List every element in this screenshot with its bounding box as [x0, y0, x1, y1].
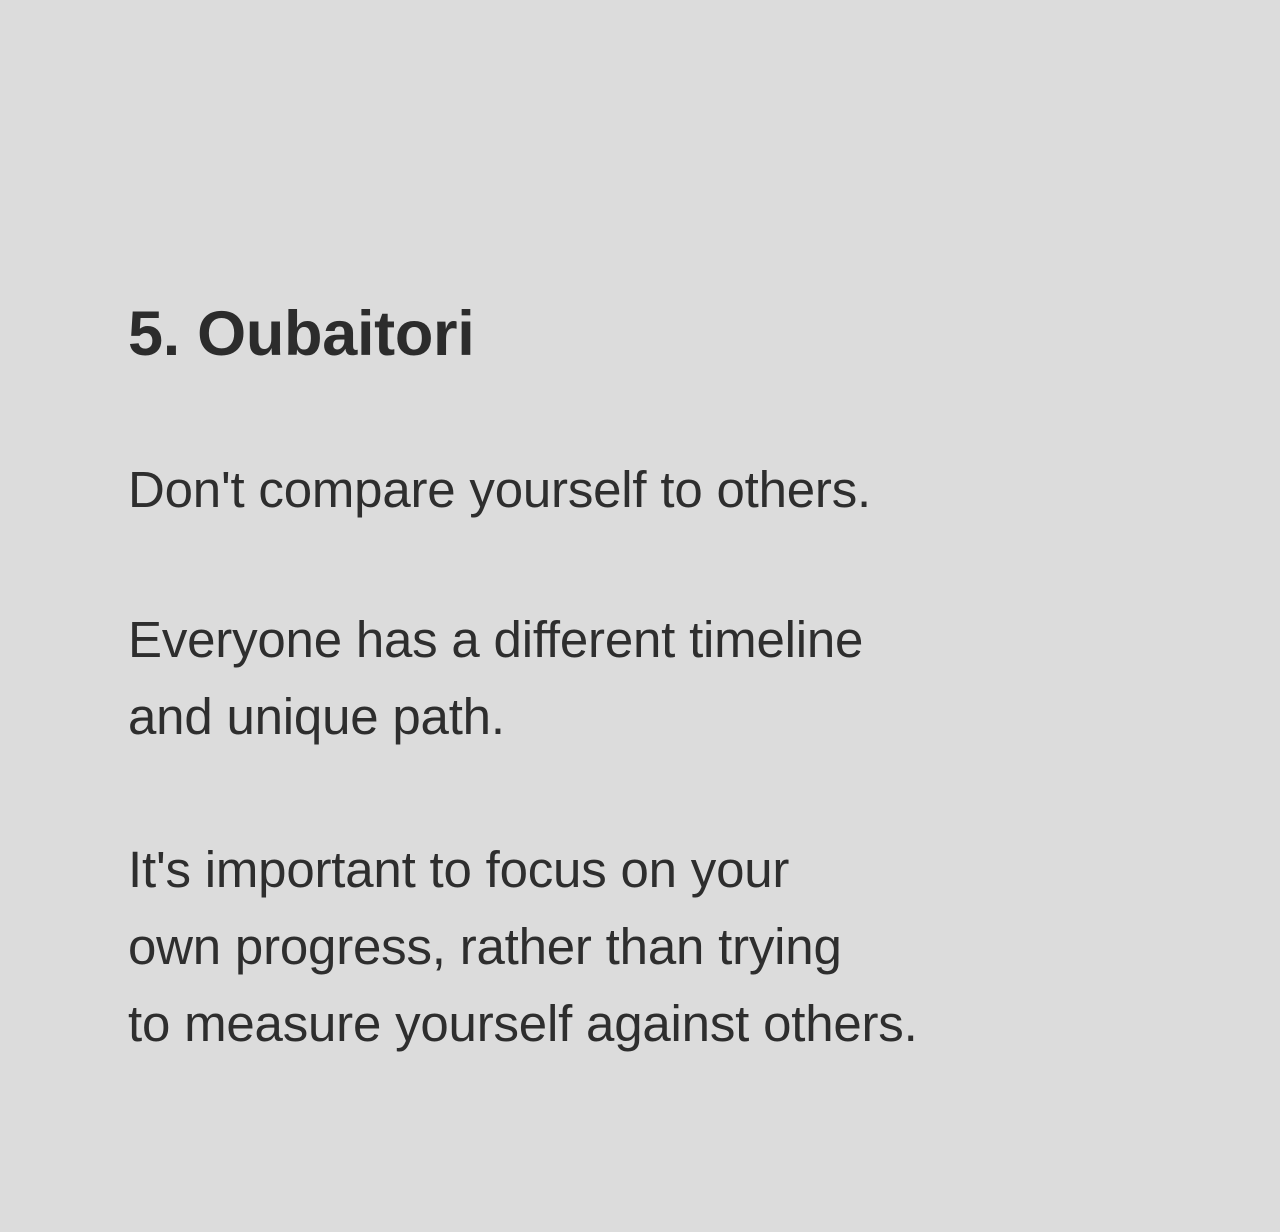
paragraph-line: own progress, rather than trying [128, 908, 1188, 985]
paragraph-line: to measure yourself against others. [128, 985, 1188, 1062]
paragraph-line: Don't compare yourself to others. [128, 451, 1188, 528]
paragraph-line: Everyone has a different timeline [128, 601, 1188, 678]
page-title: 5. Oubaitori [128, 300, 1188, 368]
quote-card: 5. Oubaitori Don't compare yourself to o… [0, 0, 1280, 1232]
paragraph-line: It's important to focus on your [128, 831, 1188, 908]
paragraph-line: and unique path. [128, 678, 1188, 755]
paragraph-focus-own-progress: It's important to focus on your own prog… [128, 831, 1188, 1062]
quote-content: 5. Oubaitori Don't compare yourself to o… [128, 300, 1188, 1062]
paragraph-different-timeline: Everyone has a different timeline and un… [128, 601, 1188, 755]
paragraph-dont-compare: Don't compare yourself to others. [128, 451, 1188, 528]
